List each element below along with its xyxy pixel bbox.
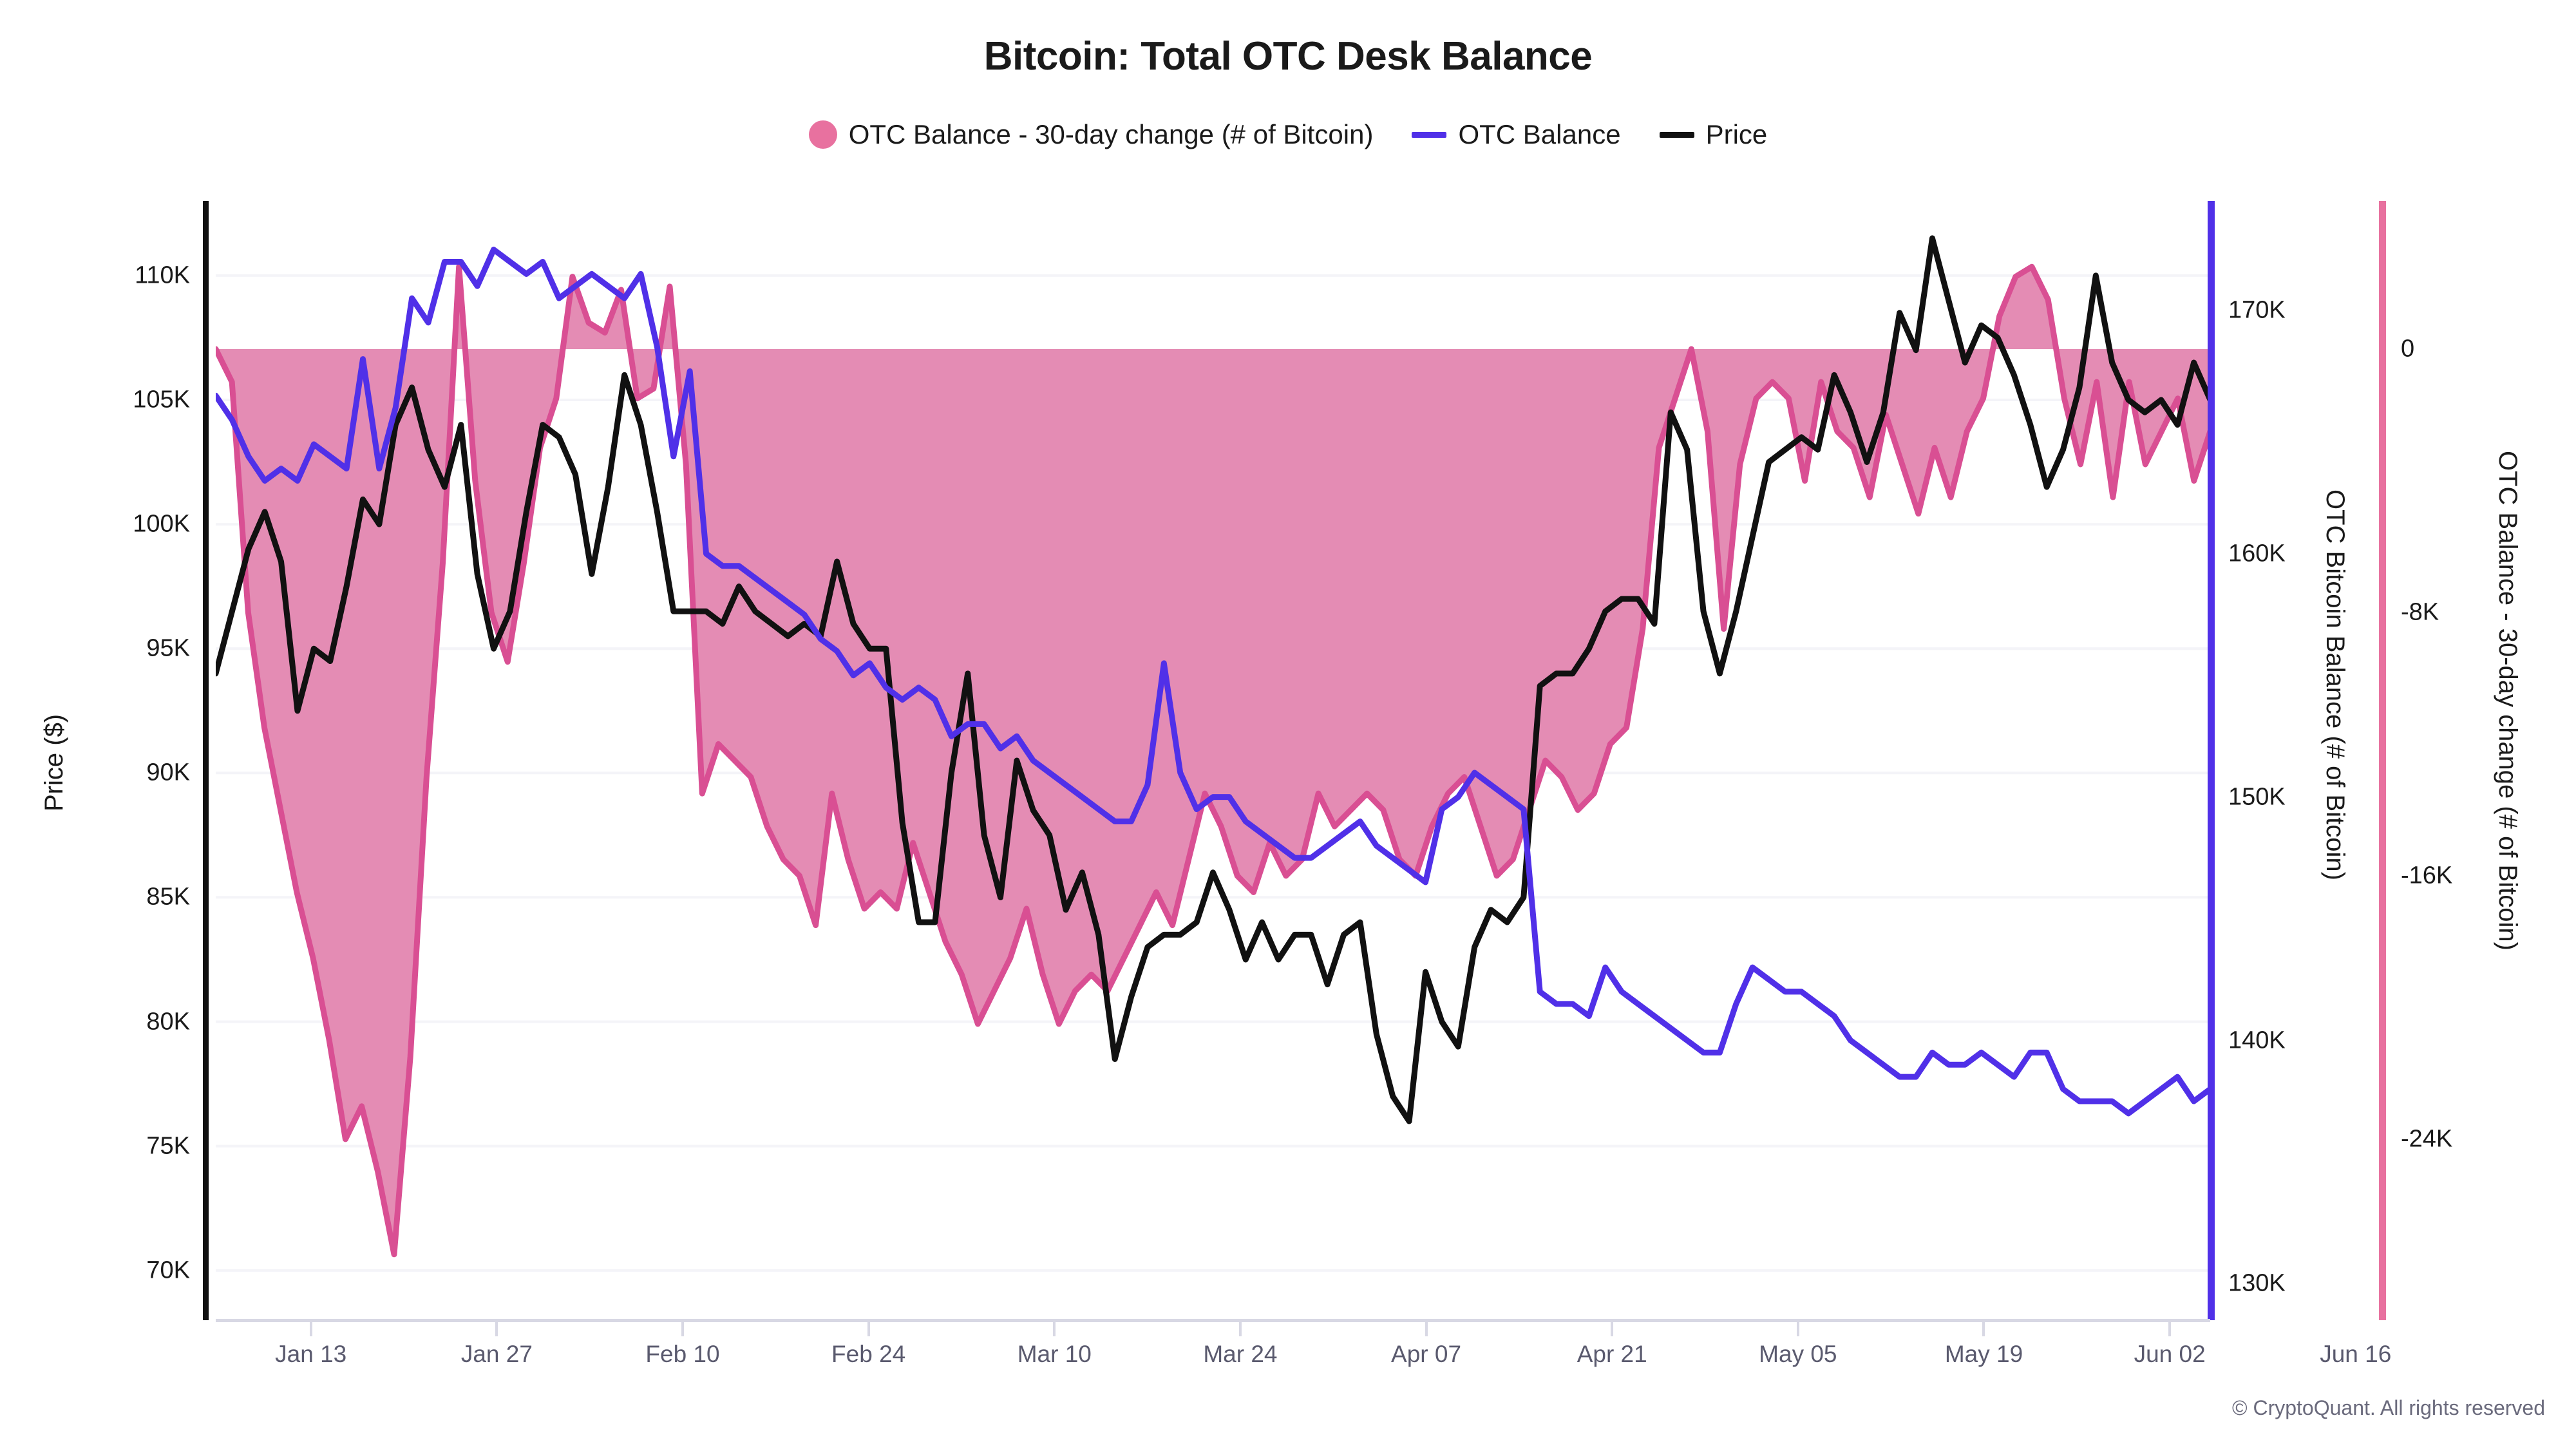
legend-item-otc-change[interactable]: OTC Balance - 30-day change (# of Bitcoi… xyxy=(809,119,1374,150)
chart-root: Bitcoin: Total OTC Desk Balance OTC Bala… xyxy=(0,0,2576,1449)
x-axis-line xyxy=(216,1319,2210,1322)
legend-dot-icon xyxy=(809,120,837,149)
y-tick-label: 140K xyxy=(2228,1027,2286,1054)
y-tick-label: -8K xyxy=(2401,598,2439,626)
y-tick-label: 160K xyxy=(2228,540,2286,567)
y-tick-label: 110K xyxy=(61,261,190,289)
y-tick-label: 130K xyxy=(2228,1270,2286,1298)
x-tick-label: Jan 27 xyxy=(461,1341,533,1368)
x-tick-mark xyxy=(2168,1322,2171,1336)
x-tick-label: Jun 02 xyxy=(2134,1341,2206,1368)
legend-item-price[interactable]: Price xyxy=(1660,119,1768,150)
y-tick-label: 0 xyxy=(2401,336,2414,363)
y-tick-label: 95K xyxy=(61,635,190,663)
y-tick-label: 105K xyxy=(61,386,190,413)
y-tick-label: 100K xyxy=(61,511,190,538)
x-tick-mark xyxy=(310,1322,312,1336)
y-tick-label: 150K xyxy=(2228,783,2286,811)
page-title: Bitcoin: Total OTC Desk Balance xyxy=(0,33,2576,79)
x-tick-mark xyxy=(1239,1322,1242,1336)
x-tick-label: May 05 xyxy=(1759,1341,1837,1368)
y-axis-title-otc-change: OTC Balance - 30-day change (# of Bitcoi… xyxy=(2493,451,2522,951)
y-tick-label: 70K xyxy=(61,1256,190,1284)
legend-line-icon-otc-balance xyxy=(1412,132,1446,138)
legend-label-otc-balance: OTC Balance xyxy=(1458,119,1620,150)
x-tick-label: Mar 10 xyxy=(1018,1341,1092,1368)
x-tick-label: Feb 24 xyxy=(831,1341,905,1368)
x-tick-mark xyxy=(1982,1322,1985,1336)
x-tick-label: May 19 xyxy=(1945,1341,2023,1368)
y-tick-label: -16K xyxy=(2401,862,2452,889)
y-tick-label: 80K xyxy=(61,1008,190,1036)
y-tick-label: 85K xyxy=(61,884,190,911)
axis-spine-otc-balance xyxy=(2208,201,2215,1320)
x-tick-mark xyxy=(1611,1322,1613,1336)
x-tick-mark xyxy=(867,1322,870,1336)
x-tick-mark xyxy=(1053,1322,1056,1336)
y-tick-label: 90K xyxy=(61,759,190,787)
x-tick-mark xyxy=(681,1322,684,1336)
x-tick-mark xyxy=(1797,1322,1799,1336)
x-tick-label: Jan 13 xyxy=(275,1341,346,1368)
y-tick-label: 170K xyxy=(2228,297,2286,325)
axis-spine-price xyxy=(203,201,209,1320)
x-tick-label: Feb 10 xyxy=(645,1341,719,1368)
legend-line-icon-price xyxy=(1660,132,1694,138)
chart-legend: OTC Balance - 30-day change (# of Bitcoi… xyxy=(0,119,2576,150)
legend-label-price: Price xyxy=(1706,119,1768,150)
y-tick-label: -24K xyxy=(2401,1125,2452,1153)
area-otc-change-fill xyxy=(216,267,2210,1255)
x-tick-label: Apr 07 xyxy=(1391,1341,1461,1368)
x-tick-mark xyxy=(495,1322,498,1336)
copyright-footer: © CryptoQuant. All rights reserved xyxy=(2232,1396,2545,1420)
x-tick-mark xyxy=(1425,1322,1428,1336)
axis-spine-otc-change xyxy=(2379,201,2386,1320)
plot-area xyxy=(216,201,2210,1320)
chart-canvas xyxy=(216,201,2210,1320)
x-tick-label: Apr 21 xyxy=(1577,1341,1647,1368)
y-axis-title-otc-balance: OTC Bitcoin Balance (# of Bitcoin) xyxy=(2320,489,2349,880)
x-tick-label: Jun 16 xyxy=(2320,1341,2391,1368)
legend-item-otc-balance[interactable]: OTC Balance xyxy=(1412,119,1620,150)
legend-label-otc-change: OTC Balance - 30-day change (# of Bitcoi… xyxy=(849,119,1374,150)
y-tick-label: 75K xyxy=(61,1132,190,1160)
x-tick-label: Mar 24 xyxy=(1203,1341,1277,1368)
y-axis-title-price: Price ($) xyxy=(40,714,69,811)
